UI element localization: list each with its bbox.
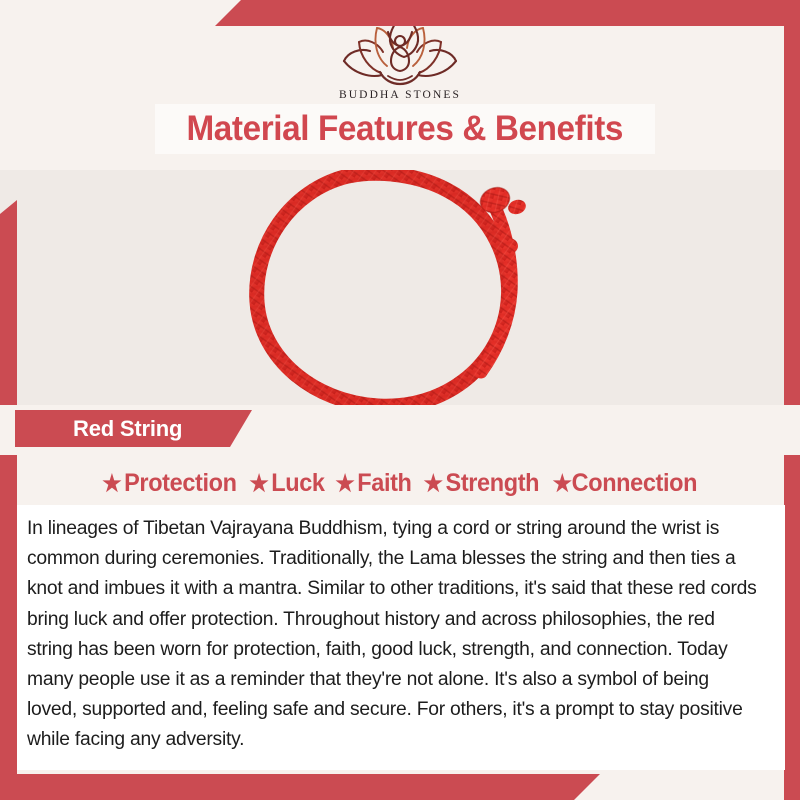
page-title-text: Material Features & Benefits	[187, 109, 624, 149]
feature-label: Protection	[124, 469, 236, 498]
feature-item-luck: ★ Luck	[249, 469, 324, 498]
red-string-bracelet-loop	[0, 160, 800, 412]
right-red-strip	[784, 0, 800, 800]
star-icon: ★	[423, 472, 442, 495]
feature-item-strength: ★ Strength	[423, 469, 538, 498]
feature-item-faith: ★ Faith	[335, 469, 411, 498]
brand-name: BUDDHA STONES	[0, 89, 800, 101]
brand-logo: BUDDHA STONES	[0, 14, 800, 101]
infographic-card: BUDDHA STONES Material Features & Benefi…	[0, 0, 800, 800]
product-image-area	[0, 160, 800, 416]
feature-item-protection: ★ Protection	[102, 469, 236, 498]
feature-label: Luck	[271, 469, 324, 498]
top-red-band	[215, 0, 800, 26]
feature-item-connection: ★ Connection	[553, 469, 698, 498]
feature-list: ★ Protection ★ Luck ★ Faith ★ Strength ★…	[0, 463, 800, 503]
star-icon: ★	[335, 472, 354, 495]
feature-label: Strength	[445, 469, 539, 498]
description-text: In lineages of Tibetan Vajrayana Buddhis…	[27, 513, 762, 755]
star-icon: ★	[553, 472, 572, 495]
star-icon: ★	[249, 472, 268, 495]
star-icon: ★	[102, 472, 121, 495]
description-block: In lineages of Tibetan Vajrayana Buddhis…	[17, 505, 785, 770]
feature-label: Connection	[572, 469, 697, 498]
product-name-text: Red String	[15, 416, 182, 442]
bottom-red-band	[0, 774, 600, 800]
product-name-banner: Red String	[15, 410, 252, 447]
page-title: Material Features & Benefits	[155, 104, 655, 154]
feature-label: Faith	[357, 469, 411, 498]
